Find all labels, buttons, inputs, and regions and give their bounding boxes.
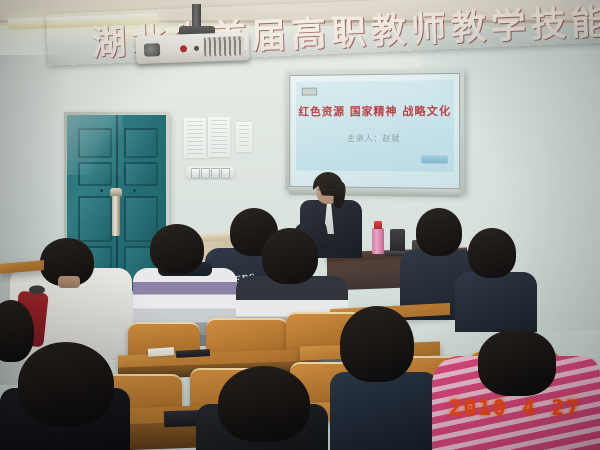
jacket-brand-text: Kappa	[24, 296, 42, 302]
light-switch[interactable]	[191, 168, 200, 179]
slide-title: 红色资源 国家精神 战略文化	[296, 102, 454, 119]
projected-slide: 红色资源 国家精神 战略文化 主讲人：赵斌	[296, 80, 454, 172]
projector-lens-icon	[144, 43, 160, 57]
student-head-back-right	[416, 208, 462, 256]
student-head-foreground-navy	[340, 306, 414, 382]
student-torso-foreground-navy	[330, 372, 438, 450]
student-head-striped-gray	[262, 228, 318, 284]
door-panel	[78, 128, 112, 158]
student-head-striped-purple	[150, 224, 204, 274]
student-head-far-right	[468, 228, 516, 278]
slide-corner-graphic	[421, 155, 448, 163]
student-neck	[58, 276, 80, 288]
door-panel	[124, 162, 158, 186]
whiteboard-surface: 红色资源 国家精神 战略文化 主讲人：赵斌	[289, 73, 460, 189]
ceiling-projector-icon	[136, 32, 250, 64]
notice-text-lines	[239, 125, 249, 149]
bottle-cap-icon	[374, 221, 382, 229]
student-torso-far-right	[455, 272, 537, 332]
camera-timestamp: 2010 4 27	[449, 396, 581, 420]
door-stud	[100, 189, 103, 192]
door-panel	[124, 128, 158, 158]
slide-subtitle: 主讲人：赵斌	[296, 133, 454, 144]
door-panel	[78, 162, 112, 186]
pink-thermos-bottle	[372, 228, 384, 254]
door-handle-icon[interactable]	[112, 196, 120, 236]
student-head-foreground-left	[18, 342, 114, 426]
classroom-photo: 湖北省首届高职教师教学技能	[0, 0, 600, 450]
notice-text-lines	[187, 121, 203, 155]
light-switch[interactable]	[211, 168, 220, 179]
light-switch[interactable]	[221, 168, 230, 179]
light-switch-panel[interactable]	[186, 166, 234, 178]
door-stud	[133, 189, 136, 192]
notice-text-lines	[211, 120, 227, 154]
interactive-whiteboard[interactable]: 红色资源 国家精神 战略文化 主讲人：赵斌	[286, 69, 465, 194]
projector-indicator-dark	[194, 46, 199, 51]
light-switch[interactable]	[201, 168, 210, 179]
whiteboard-logo-icon	[302, 88, 317, 96]
student-head-foreground-center	[218, 366, 310, 442]
presenter-glasses-icon	[318, 189, 335, 195]
door-panel	[78, 196, 112, 242]
student-head-pink-striped	[478, 330, 556, 396]
wall-notice-right	[236, 122, 252, 152]
wall-notice-middle	[208, 117, 230, 157]
wall-notice-left	[184, 118, 206, 158]
projector-vent	[204, 36, 245, 56]
projector-indicator-red	[180, 45, 187, 52]
